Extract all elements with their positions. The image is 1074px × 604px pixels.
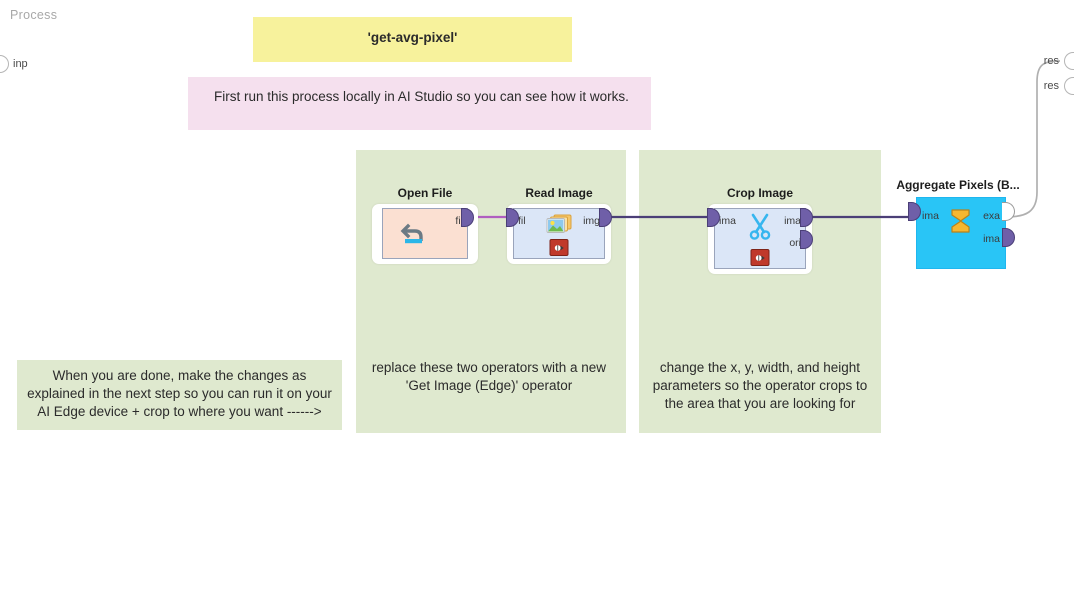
port-label-aggregate-exa: exa: [983, 210, 1000, 222]
process-output-label-0: res: [1044, 55, 1059, 67]
port-label-aggregate-ima-in: ima: [922, 210, 939, 222]
process-input-label: inp: [13, 58, 28, 70]
output-port-aggregate-ima[interactable]: [1002, 228, 1015, 247]
scissors-icon: [745, 212, 775, 242]
undo-arrow-icon: [399, 220, 429, 248]
port-label-crop-image-ima-in: ima: [719, 215, 736, 227]
operator-body-crop-image[interactable]: ima ima ori: [714, 208, 806, 269]
operator-title-aggregate-pixels: Aggregate Pixels (B...: [896, 178, 1019, 192]
operator-title-read-image: Read Image: [525, 186, 592, 200]
photo-stack-icon: [545, 213, 573, 237]
operator-title-open-file: Open File: [398, 186, 453, 200]
annotation-pink-note[interactable]: First run this process locally in AI Stu…: [188, 77, 651, 130]
process-label: Process: [10, 8, 57, 22]
process-output-nub-1[interactable]: [1064, 77, 1074, 95]
annotation-change-note[interactable]: change the x, y, width, and height param…: [645, 356, 875, 418]
process-output-port-res-1[interactable]: res: [1044, 77, 1074, 95]
port-label-aggregate-ima-out: ima: [983, 233, 1000, 245]
process-input-nub[interactable]: [0, 55, 9, 73]
process-canvas[interactable]: Process Open File fil Re: [0, 0, 1074, 604]
sigma-icon: [948, 207, 974, 235]
breakpoint-badge-crop-image[interactable]: [751, 249, 770, 266]
output-port-aggregate-exa[interactable]: [1002, 202, 1015, 221]
operator-body-aggregate-pixels[interactable]: ima exa ima: [916, 197, 1006, 269]
process-output-port-res-0[interactable]: res: [1044, 52, 1074, 70]
operator-body-open-file[interactable]: fil: [382, 208, 468, 259]
process-output-nub-0[interactable]: [1064, 52, 1074, 70]
port-label-read-image-img: img: [583, 215, 600, 227]
annotation-replace-note[interactable]: replace these two operators with a new '…: [364, 356, 614, 400]
annotation-title-note[interactable]: 'get-avg-pixel': [253, 17, 572, 62]
operator-body-read-image[interactable]: fil img: [513, 208, 605, 259]
process-output-label-1: res: [1044, 80, 1059, 92]
annotation-left-green-note[interactable]: When you are done, make the changes as e…: [17, 360, 342, 430]
breakpoint-badge-read-image[interactable]: [550, 239, 569, 256]
operator-title-crop-image: Crop Image: [727, 186, 793, 200]
process-input-port-inp[interactable]: inp: [0, 55, 28, 73]
port-label-read-image-fil: fil: [518, 215, 526, 227]
port-label-crop-image-ima-out: ima: [784, 215, 801, 227]
